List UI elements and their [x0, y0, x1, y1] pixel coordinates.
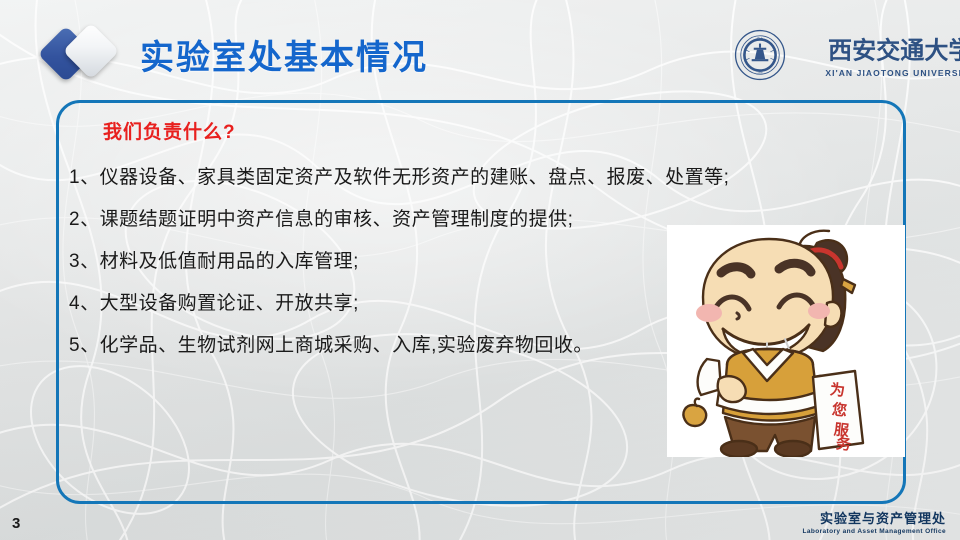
diamond-logo — [40, 24, 132, 84]
content-panel: 我们负责什么? 1、仪器设备、家具类固定资产及软件无形资产的建账、盘点、报废、处… — [56, 100, 906, 504]
footer-org-name-cn: 实验室与资产管理处 — [802, 508, 946, 527]
footer-brand: 实验室与资产管理处 Laboratory and Asset Managemen… — [802, 508, 946, 535]
university-seal-icon: 交大 1896 — [734, 29, 786, 81]
university-wordmark: 西安交通大学 XI'AN JIAOTONG UNIVERSITY — [794, 33, 960, 78]
svg-text:1896: 1896 — [757, 72, 763, 75]
university-name-cn: 西安交通大学 — [828, 36, 960, 64]
slide-canvas: 实验室处基本情况 交大 1896 — [0, 0, 960, 540]
page-number: 3 — [12, 515, 20, 532]
mascot-panel: 为 您 服 务 — [667, 225, 905, 457]
section-question-heading: 我们负责什么? — [103, 117, 236, 144]
svg-text:交大: 交大 — [757, 35, 763, 40]
cartoon-waiter-icon: 为 您 服 务 — [667, 225, 905, 457]
footer-org-name-en: Laboratory and Asset Management Office — [802, 528, 946, 535]
university-logo: 交大 1896 西安交通大学 XI'AN JIAOTONG UNIVERSITY — [734, 26, 944, 84]
svg-text:您: 您 — [830, 400, 848, 420]
page-title: 实验室处基本情况 — [140, 30, 428, 79]
svg-text:为: 为 — [829, 380, 846, 399]
list-item: 1、仪器设备、家具类固定资产及软件无形资产的建账、盘点、报废、处置等; — [69, 157, 899, 199]
university-name-cn-icon: 西安交通大学 — [794, 33, 960, 67]
slide-header: 实验室处基本情况 交大 1896 — [0, 0, 960, 96]
svg-text:务: 务 — [835, 434, 853, 454]
university-name-en: XI'AN JIAOTONG UNIVERSITY — [825, 68, 960, 78]
